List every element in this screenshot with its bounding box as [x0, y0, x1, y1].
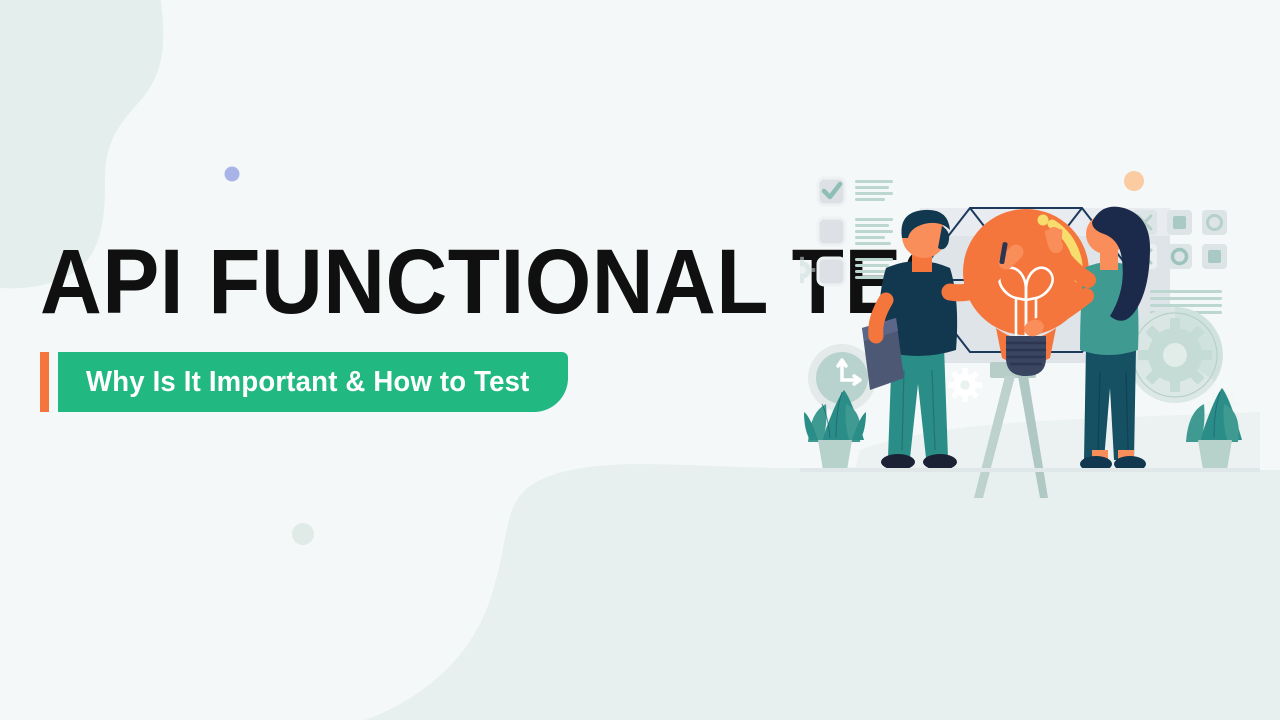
subtitle-pill: Why Is It Important & How to Test — [58, 352, 568, 412]
banner-canvas: API FUNCTIONAL TESTING Why Is It Importa… — [0, 0, 1280, 720]
dot-sage — [292, 523, 314, 545]
plant-pot-left — [818, 440, 852, 470]
checklist-lines-2 — [855, 218, 893, 245]
checklist-lines-1 — [855, 180, 893, 201]
man-shoe-left — [881, 454, 915, 470]
checkbox-empty-1 — [818, 218, 845, 245]
ground-line — [800, 468, 1260, 472]
checklist-group — [818, 178, 893, 285]
subtitle-text: Why Is It Important & How to Test — [86, 366, 530, 399]
dot-periwinkle — [225, 167, 240, 182]
subtitle-accent-bar — [40, 352, 49, 412]
gear-icon-large — [1127, 307, 1223, 403]
man-shoe-right — [923, 454, 957, 470]
gear-icon-left — [800, 257, 815, 283]
square-symbol-2 — [1208, 250, 1221, 263]
page-title: API FUNCTIONAL TESTING — [40, 238, 747, 326]
plant-pot-right — [1198, 440, 1232, 470]
bulb-base — [1006, 336, 1046, 376]
checkbox-empty-2 — [818, 258, 845, 285]
square-symbol-1 — [1173, 216, 1186, 229]
headline-block: API FUNCTIONAL TESTING Why Is It Importa… — [40, 238, 800, 412]
team-idea-testing-illustration — [800, 150, 1260, 530]
subtitle-banner: Why Is It Important & How to Test — [40, 352, 568, 412]
gear-icon-center-small — [948, 368, 982, 402]
